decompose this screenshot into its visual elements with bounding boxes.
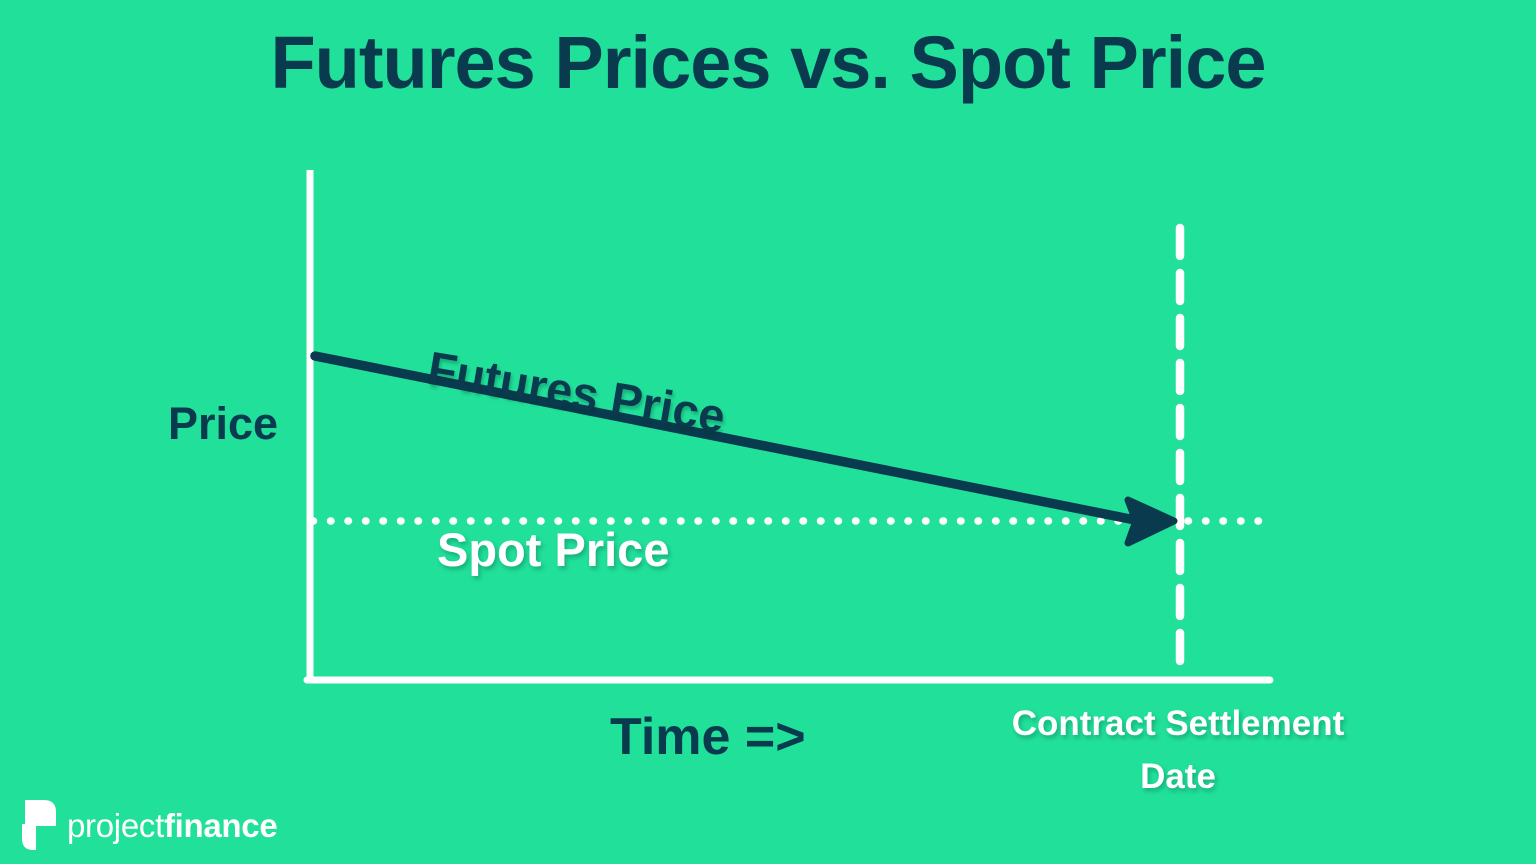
chart-canvas: Futures Prices vs. Spot Price Price Time…: [0, 0, 1536, 864]
projectfinance-logo-icon: [22, 800, 56, 850]
futures-price-arrowhead: [1128, 500, 1174, 543]
logo-text-finance: finance: [164, 807, 277, 844]
spot-price-label: Spot Price: [437, 522, 669, 577]
logo-text-project: project: [67, 807, 164, 844]
settlement-date-label: Contract Settlement Date: [1011, 698, 1345, 803]
x-axis-label: Time =>: [610, 707, 806, 767]
projectfinance-logo: projectfinance: [22, 800, 277, 850]
projectfinance-logo-text: projectfinance: [67, 809, 277, 842]
y-axis-label: Price: [168, 398, 278, 450]
